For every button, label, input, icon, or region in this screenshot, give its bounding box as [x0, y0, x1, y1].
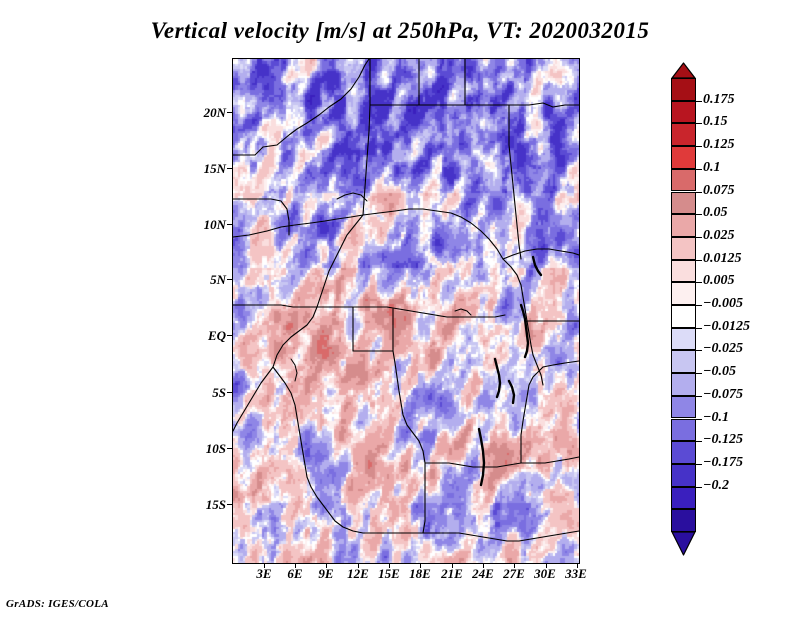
colorbar-swatch: [671, 373, 696, 396]
xtick-mark: [577, 563, 578, 568]
colorbar-swatch: [671, 328, 696, 351]
colorbar-max-arrow: [671, 62, 696, 79]
colorbar-swatch: [671, 192, 696, 215]
colorbar-swatch: [671, 441, 696, 464]
xtick-label: 30E: [529, 566, 561, 582]
ytick-mark: [227, 448, 232, 449]
xtick-mark: [295, 563, 296, 568]
xtick-mark: [514, 563, 515, 568]
colorbar-tick: [696, 350, 702, 351]
colorbar-label: −0.125: [703, 432, 743, 448]
xtick-mark: [326, 563, 327, 568]
colorbar-tick: [696, 282, 702, 283]
colorbar-swatch: [671, 146, 696, 169]
colorbar-label: 0.025: [703, 228, 735, 244]
colorbar-tick: [696, 260, 702, 261]
colorbar-label: 0.1: [703, 160, 721, 176]
colorbar-label: −0.2: [703, 478, 729, 494]
colorbar-label: 0.05: [703, 205, 728, 221]
colorbar-label: 0.005: [703, 273, 735, 289]
ytick-mark: [227, 504, 232, 505]
grads-watermark: GrADS: IGES/COLA: [6, 598, 109, 610]
ytick-label: 5N: [182, 272, 226, 288]
colorbar-tick: [696, 396, 702, 397]
ytick-label: 10N: [182, 217, 226, 233]
colorbar-swatch: [671, 123, 696, 146]
colorbar-label: −0.0125: [703, 319, 750, 335]
colorbar-tick: [696, 305, 702, 306]
xtick-label: 27E: [498, 566, 530, 582]
ytick-mark: [227, 112, 232, 113]
colorbar-label: 0.175: [703, 92, 735, 108]
colorbar-tick: [696, 464, 702, 465]
colorbar-swatch: [671, 487, 696, 510]
colorbar-swatch: [671, 419, 696, 442]
colorbar-tick: [696, 441, 702, 442]
colorbar-label: 0.125: [703, 137, 735, 153]
colorbar-label: −0.005: [703, 296, 743, 312]
colorbar-label: 0.075: [703, 183, 735, 199]
xtick-label: 18E: [404, 566, 436, 582]
xtick-label: 21E: [436, 566, 468, 582]
xtick-label: 33E: [560, 566, 592, 582]
colorbar-swatch: [671, 305, 696, 328]
colorbar-swatch: [671, 464, 696, 487]
xtick-mark: [546, 563, 547, 568]
colorbar-tick: [696, 146, 702, 147]
xtick-label: 24E: [467, 566, 499, 582]
colorbar-label: 0.0125: [703, 251, 742, 267]
colorbar-swatch: [671, 282, 696, 305]
colorbar-label: −0.025: [703, 341, 743, 357]
ytick-mark: [227, 168, 232, 169]
colorbar: 0.1750.150.1250.10.0750.050.0250.01250.0…: [671, 78, 696, 532]
ytick-label: 5S: [182, 385, 226, 401]
colorbar-tick: [696, 373, 702, 374]
colorbar-label: −0.075: [703, 387, 743, 403]
colorbar-tick: [696, 487, 702, 488]
ytick-mark: [227, 392, 232, 393]
xtick-mark: [358, 563, 359, 568]
colorbar-min-arrow: [671, 531, 696, 556]
colorbar-label: −0.05: [703, 364, 736, 380]
colorbar-label: 0.15: [703, 114, 728, 130]
colorbar-label: −0.175: [703, 455, 743, 471]
ytick-label: 20N: [182, 105, 226, 121]
colorbar-tick: [696, 169, 702, 170]
colorbar-tick: [696, 192, 702, 193]
ytick-label: EQ: [182, 328, 226, 344]
colorbar-swatch: [671, 237, 696, 260]
colorbar-label: −0.1: [703, 410, 729, 426]
xtick-mark: [389, 563, 390, 568]
xtick-mark: [483, 563, 484, 568]
xtick-label: 6E: [280, 566, 310, 582]
colorbar-tick: [696, 237, 702, 238]
xtick-mark: [452, 563, 453, 568]
map-plot-area: [232, 58, 580, 564]
colorbar-swatch: [671, 260, 696, 283]
xtick-label: 12E: [342, 566, 374, 582]
colorbar-swatch: [671, 78, 696, 101]
ytick-label: 15S: [182, 497, 226, 513]
country-borders-overlay: [233, 59, 579, 563]
colorbar-swatch: [671, 169, 696, 192]
colorbar-swatch: [671, 101, 696, 124]
ytick-label: 10S: [182, 441, 226, 457]
xtick-label: 9E: [311, 566, 341, 582]
colorbar-tick: [696, 123, 702, 124]
colorbar-tick: [696, 101, 702, 102]
xtick-label: 3E: [249, 566, 279, 582]
xtick-mark: [420, 563, 421, 568]
colorbar-swatch: [671, 350, 696, 373]
xtick-label: 15E: [373, 566, 405, 582]
ytick-mark: [227, 279, 232, 280]
ytick-mark: [227, 335, 232, 336]
page-title: Vertical velocity [m/s] at 250hPa, VT: 2…: [0, 18, 800, 44]
colorbar-swatch: [671, 509, 696, 532]
colorbar-swatch: [671, 396, 696, 419]
colorbar-tick: [696, 328, 702, 329]
ytick-label: 15N: [182, 161, 226, 177]
ytick-mark: [227, 224, 232, 225]
colorbar-swatch: [671, 214, 696, 237]
xtick-mark: [264, 563, 265, 568]
colorbar-tick: [696, 419, 702, 420]
colorbar-tick: [696, 214, 702, 215]
